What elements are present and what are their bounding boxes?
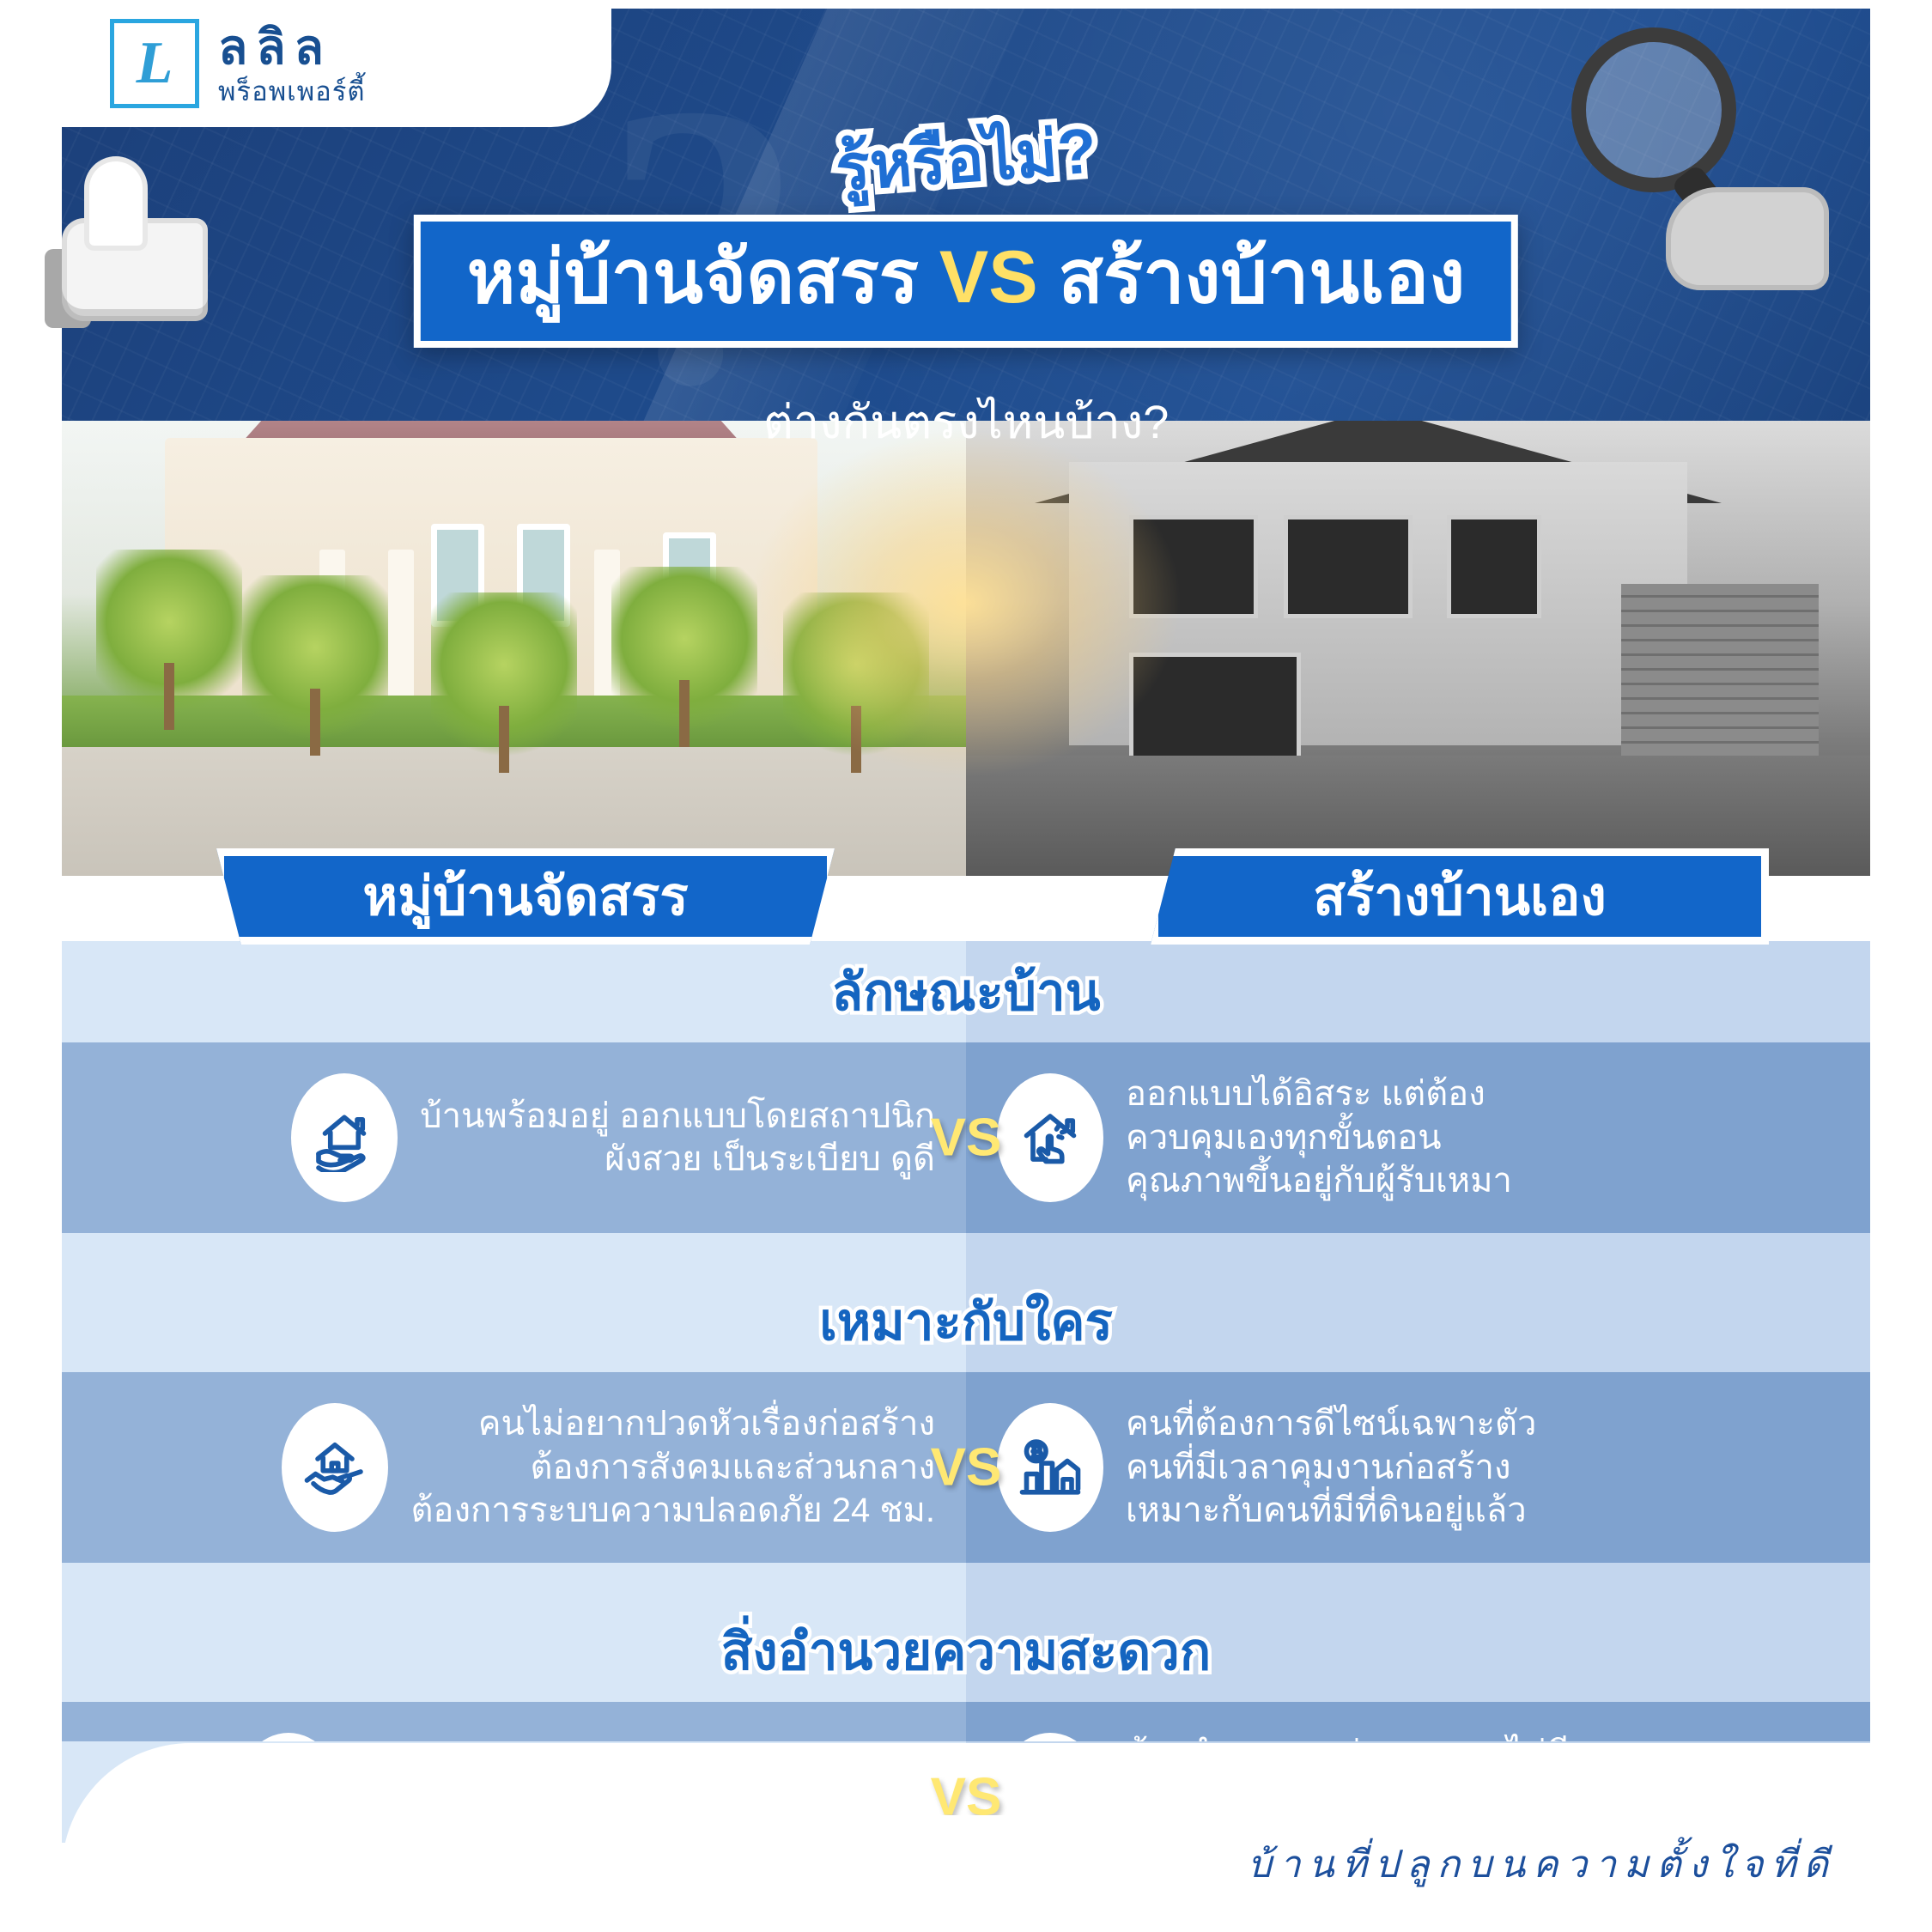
title-left: หมู่บ้านจัดสรร [467, 236, 919, 319]
section-heading-label: ลักษณะบ้าน [831, 951, 1100, 1033]
column-banner-right-label: สร้างบ้านเอง [1313, 854, 1606, 939]
vs-separator: VS [931, 1437, 1002, 1498]
infographic-poster: ? [0, 0, 1932, 1932]
photo-window-gray [1284, 515, 1413, 618]
comparison-row-1: บ้านพร้อมอยู่ ออกแบบโดยสถาปนิก ผังสวย เป… [62, 1042, 1870, 1233]
column-banner-left-label: หมู่บ้านจัดสรร [362, 854, 688, 939]
thumbs-up-icon [45, 155, 234, 326]
row-text-left: คนไม่อยากปวดหัวเรื่องก่อสร้าง ต้องการสัง… [410, 1402, 935, 1532]
logo-letter: L [137, 33, 173, 94]
row-spacer [62, 1563, 1870, 1601]
photo-window-gray [1129, 653, 1301, 764]
vs-separator: VS [931, 1767, 1002, 1816]
photo-tree [96, 550, 242, 730]
title-right: สร้างบ้านเอง [1059, 236, 1466, 319]
brand-name: ลลิล [218, 23, 366, 71]
row-cell-right: คนที่ต้องการดีไซน์เฉพาะตัว คนที่มีเวลาคุ… [966, 1372, 1870, 1563]
photo-comparison-strip [62, 421, 1870, 876]
brand-logo: L ลลิล พร็อพเพอร์ตี้ [110, 19, 366, 108]
row-cell-left: บ้านพร้อมอยู่ ออกแบบโดยสถาปนิก ผังสวย เป… [62, 1042, 966, 1233]
photo-tree [783, 592, 929, 773]
main-title-bar: หมู่บ้านจัดสรร VS สร้างบ้านเอง [414, 215, 1518, 348]
photo-window-gray [1129, 515, 1258, 618]
row-cell-right: ออกแบบได้อิสระ แต่ต้อง ควบคุมเองทุกขั้นต… [966, 1042, 1870, 1233]
brand-subname: พร็อพเพอร์ตี้ [218, 78, 366, 105]
house-touch-design-icon [997, 1073, 1103, 1202]
row-text-left: บ้านพร้อมอยู่ ออกแบบโดยสถาปนิก ผังสวย เป… [420, 1095, 935, 1182]
photo-column [388, 550, 414, 704]
column-banner-left: หมู่บ้านจัดสรร [216, 848, 835, 945]
section-heading-2: เหมาะกับใคร [62, 1271, 1870, 1372]
vs-separator: VS [931, 1108, 1002, 1169]
photo-stone-wall [1621, 584, 1819, 756]
photo-self-built-house [966, 421, 1870, 876]
section-heading-label: สิ่งอำนวยความสะดวก [721, 1611, 1211, 1692]
row-spacer [62, 1233, 1870, 1271]
did-you-know-badge: รู้หรือไม่? [832, 100, 1099, 219]
photo-housing-estate [62, 421, 966, 876]
magnifying-glass-icon [1546, 19, 1829, 276]
handshake-house-icon [282, 1403, 388, 1532]
comparison-row-2: คนไม่อยากปวดหัวเรื่องก่อสร้าง ต้องการสัง… [62, 1372, 1870, 1563]
section-heading-1: ลักษณะบ้าน [62, 941, 1870, 1042]
logo-mark-icon: L [110, 19, 199, 108]
row-text-right: ออกแบบได้อิสระ แต่ต้อง ควบคุมเองทุกขั้นต… [1126, 1072, 1512, 1202]
photo-window-gray [1447, 515, 1541, 618]
footer-tagline: บ้านที่ปลูกบนความตั้งใจที่ดี [1248, 1834, 1836, 1894]
baht-coin-buildings-icon [997, 1403, 1103, 1532]
title-vs: VS [939, 236, 1038, 319]
section-heading-label: เหมาะกับใคร [819, 1281, 1113, 1363]
comparison-table: ลักษณะบ้าน บ้านพร้อมอยู่ ออกแบบโดยสถาปนิ… [62, 941, 1870, 1815]
section-heading-3: สิ่งอำนวยความสะดวก [62, 1601, 1870, 1702]
column-banner-right: สร้างบ้านเอง [1151, 848, 1769, 945]
photo-tree [431, 592, 577, 773]
photo-tree [611, 567, 757, 747]
photo-tree [242, 575, 388, 756]
row-cell-left: คนไม่อยากปวดหัวเรื่องก่อสร้าง ต้องการสัง… [62, 1372, 966, 1563]
house-in-hand-icon [291, 1073, 398, 1202]
hero-subtitle: ต่างกันตรงไหนบ้าง? [763, 385, 1169, 459]
row-text-right: คนที่ต้องการดีไซน์เฉพาะตัว คนที่มีเวลาคุ… [1126, 1402, 1536, 1532]
